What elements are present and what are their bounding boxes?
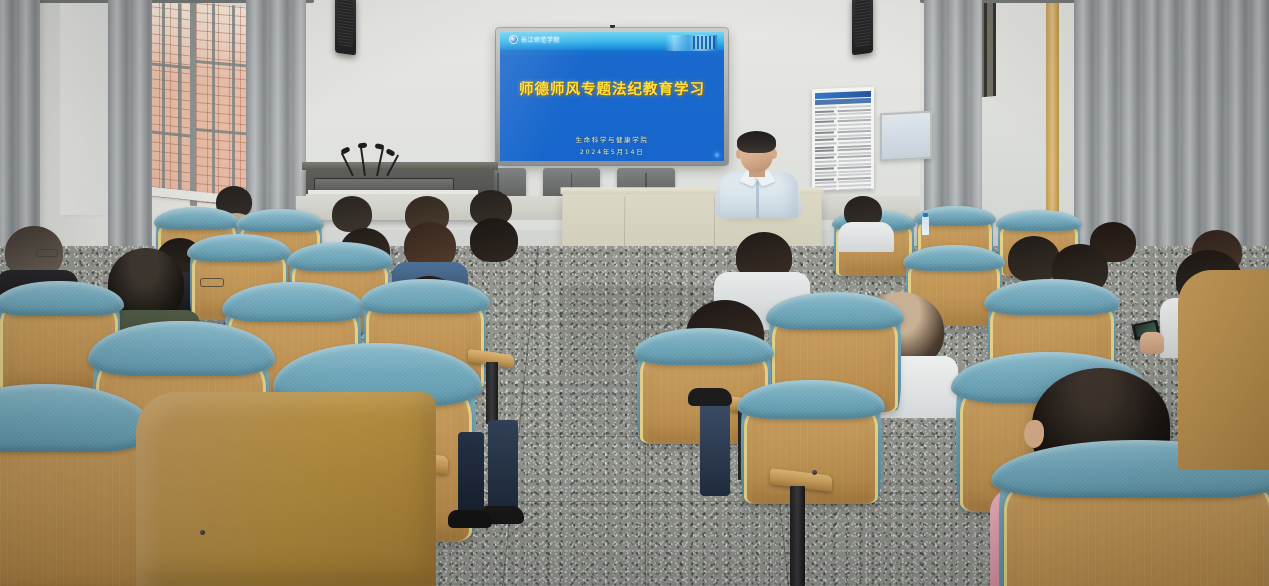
window-left-a xyxy=(148,0,194,201)
audience-torso xyxy=(838,222,894,252)
slide-header-underline xyxy=(500,50,724,57)
auditorium-seat[interactable] xyxy=(1004,452,1269,586)
shoe xyxy=(448,510,492,528)
speaker-grill-icon xyxy=(338,0,353,47)
slide-surface: 长江师范学院 师德师风专题法纪教育学习 生命科学与健康学院 2024年5月14日 xyxy=(500,32,724,161)
armrest-post xyxy=(790,486,805,586)
seat-rear-panel xyxy=(136,392,436,586)
slide-subtitle-org: 生命科学与健康学院 xyxy=(500,134,724,144)
slide-header-graphic xyxy=(665,35,717,51)
audience-head xyxy=(332,196,372,232)
slide-subtitle-date: 2024年5月14日 xyxy=(500,146,724,156)
shoe xyxy=(688,388,732,406)
wall-schedule-poster xyxy=(812,87,874,191)
hand xyxy=(1140,332,1164,354)
wall-speaker-right xyxy=(852,0,873,55)
slide-logo-text: 长江师范学院 xyxy=(521,35,560,44)
lecture-hall-photo: 长江师范学院 师德师风专题法纪教育学习 生命科学与健康学院 2024年5月14日 xyxy=(0,0,1269,586)
ear xyxy=(1024,420,1044,448)
screen-camera-icon xyxy=(610,25,615,28)
presenter-hair xyxy=(737,131,776,153)
brick-building-view xyxy=(148,0,194,201)
slide-logo: 长江师范学院 xyxy=(509,35,560,44)
console-top xyxy=(302,162,498,170)
brick-building-view-2 xyxy=(196,2,252,207)
window-left-b xyxy=(196,2,252,207)
seat-bolt xyxy=(812,470,817,475)
bottle-cap-icon xyxy=(923,213,928,217)
speaker-grill-icon xyxy=(855,0,870,47)
water-bottle xyxy=(922,216,929,235)
university-emblem-icon xyxy=(509,35,518,44)
wall-speaker-left xyxy=(335,0,356,55)
presenter xyxy=(718,134,802,214)
glasses-icon xyxy=(200,278,224,287)
attendee-leg xyxy=(488,420,518,516)
armrest-post xyxy=(486,362,498,424)
attendee-leg xyxy=(458,432,484,518)
seat-rear-panel xyxy=(1178,270,1269,470)
glasses-icon xyxy=(36,249,58,257)
seat-bolt xyxy=(200,530,205,535)
poster-subheader xyxy=(815,98,871,105)
projection-screen[interactable]: 长江师范学院 师德师风专题法纪教育学习 生命科学与健康学院 2024年5月14日 xyxy=(496,28,728,165)
side-display-panel xyxy=(880,111,932,162)
auditorium-seat[interactable] xyxy=(0,398,144,586)
audience-head xyxy=(470,218,518,262)
slide-title: 师德师风专题法纪教育学习 xyxy=(500,78,724,99)
attendee-leg xyxy=(700,400,730,496)
